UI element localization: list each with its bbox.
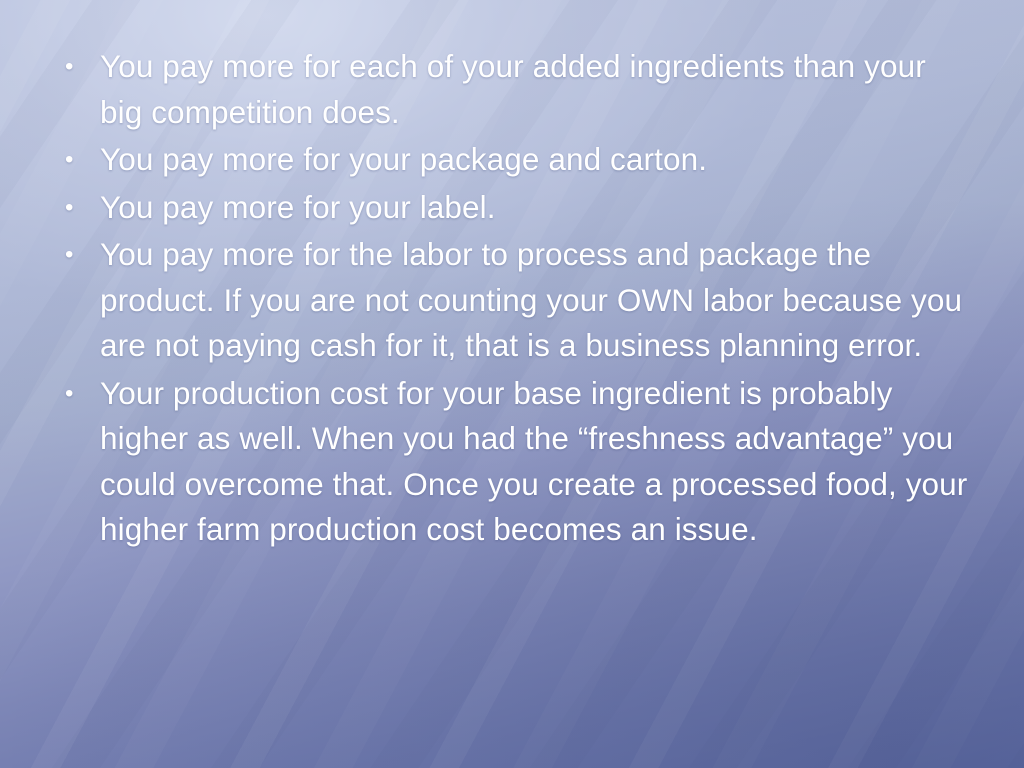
- list-item[interactable]: • You pay more for each of your added in…: [52, 44, 968, 135]
- bullet-text: Your production cost for your base ingre…: [100, 371, 968, 553]
- list-item[interactable]: • You pay more for your package and cart…: [52, 137, 968, 183]
- presentation-slide: • You pay more for each of your added in…: [0, 0, 1024, 768]
- bullet-text: You pay more for your label.: [100, 185, 968, 231]
- list-item[interactable]: • Your production cost for your base ing…: [52, 371, 968, 553]
- bullet-text: You pay more for each of your added ingr…: [100, 44, 968, 135]
- bullet-text: You pay more for the labor to process an…: [100, 232, 968, 369]
- bullet-dot-icon: •: [65, 232, 85, 278]
- slide-body-placeholder[interactable]: • You pay more for each of your added in…: [52, 44, 968, 555]
- bullet-dot-icon: •: [65, 371, 85, 417]
- bullet-text: You pay more for your package and carton…: [100, 137, 968, 183]
- bullet-list: • You pay more for each of your added in…: [52, 44, 968, 553]
- bullet-dot-icon: •: [65, 44, 85, 90]
- bullet-dot-icon: •: [65, 137, 85, 183]
- list-item[interactable]: • You pay more for your label.: [52, 185, 968, 231]
- list-item[interactable]: • You pay more for the labor to process …: [52, 232, 968, 369]
- bullet-dot-icon: •: [65, 185, 85, 231]
